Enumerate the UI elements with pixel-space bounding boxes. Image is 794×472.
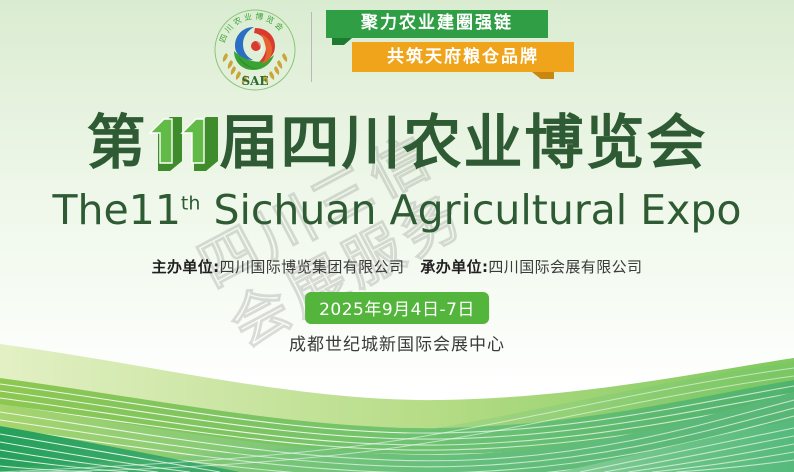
slogan-text-orange: 共筑天府粮仓品牌 — [387, 47, 539, 67]
title-en-rest: Sichuan Agricultural Expo — [200, 186, 741, 234]
wave-graphic — [0, 342, 794, 472]
slogan-banner-orange-tail — [532, 72, 554, 79]
title-english: The11th Sichuan Agricultural Expo — [0, 186, 794, 234]
slogan-banners: 聚力农业建圈强链 共筑天府粮仓品牌 — [326, 10, 576, 88]
host-value: 四川国际博览集团有限公司 — [220, 258, 405, 276]
number-11-3d-icon — [148, 107, 220, 173]
logo-acronym: SAE — [241, 74, 268, 88]
date-badge: 2025年9月4日-7日 — [305, 292, 489, 324]
organizer-line: 主办单位:四川国际博览集团有限公司承办单位:四川国际会展有限公司 — [0, 256, 794, 277]
organizer-label: 承办单位: — [420, 258, 488, 276]
title-chinese: 第 届四川农业博览会 — [0, 109, 794, 177]
slogan-banner-green-tail — [332, 38, 352, 45]
header-divider — [311, 12, 312, 82]
poster-header: 四川农业博览会 SAE 聚力农业建圈强链 共筑天府粮仓品牌 — [0, 0, 794, 100]
title-en-ordinal-suffix: th — [181, 192, 201, 214]
slogan-banner-green: 聚力农业建圈强链 — [326, 10, 548, 38]
sae-logo: 四川农业博览会 SAE — [213, 8, 297, 92]
sae-emblem-icon: 四川农业博览会 SAE — [213, 8, 297, 92]
host-label: 主办单位: — [152, 258, 220, 276]
title-en-pre: The11 — [52, 186, 180, 234]
slogan-text-green: 聚力农业建圈强链 — [361, 13, 513, 33]
slogan-banner-orange: 共筑天府粮仓品牌 — [352, 42, 574, 72]
organizer-value: 四川国际会展有限公司 — [488, 258, 642, 276]
poster-canvas: 四川三信 会展服务 — [0, 0, 794, 472]
date-text: 2025年9月4日-7日 — [319, 300, 475, 320]
wave-decoration — [0, 342, 794, 472]
title-cn-prefix: 第 — [86, 108, 147, 177]
title-edition-number-3d — [148, 109, 220, 169]
title-cn-suffix: 届四川农业博览会 — [220, 108, 708, 177]
